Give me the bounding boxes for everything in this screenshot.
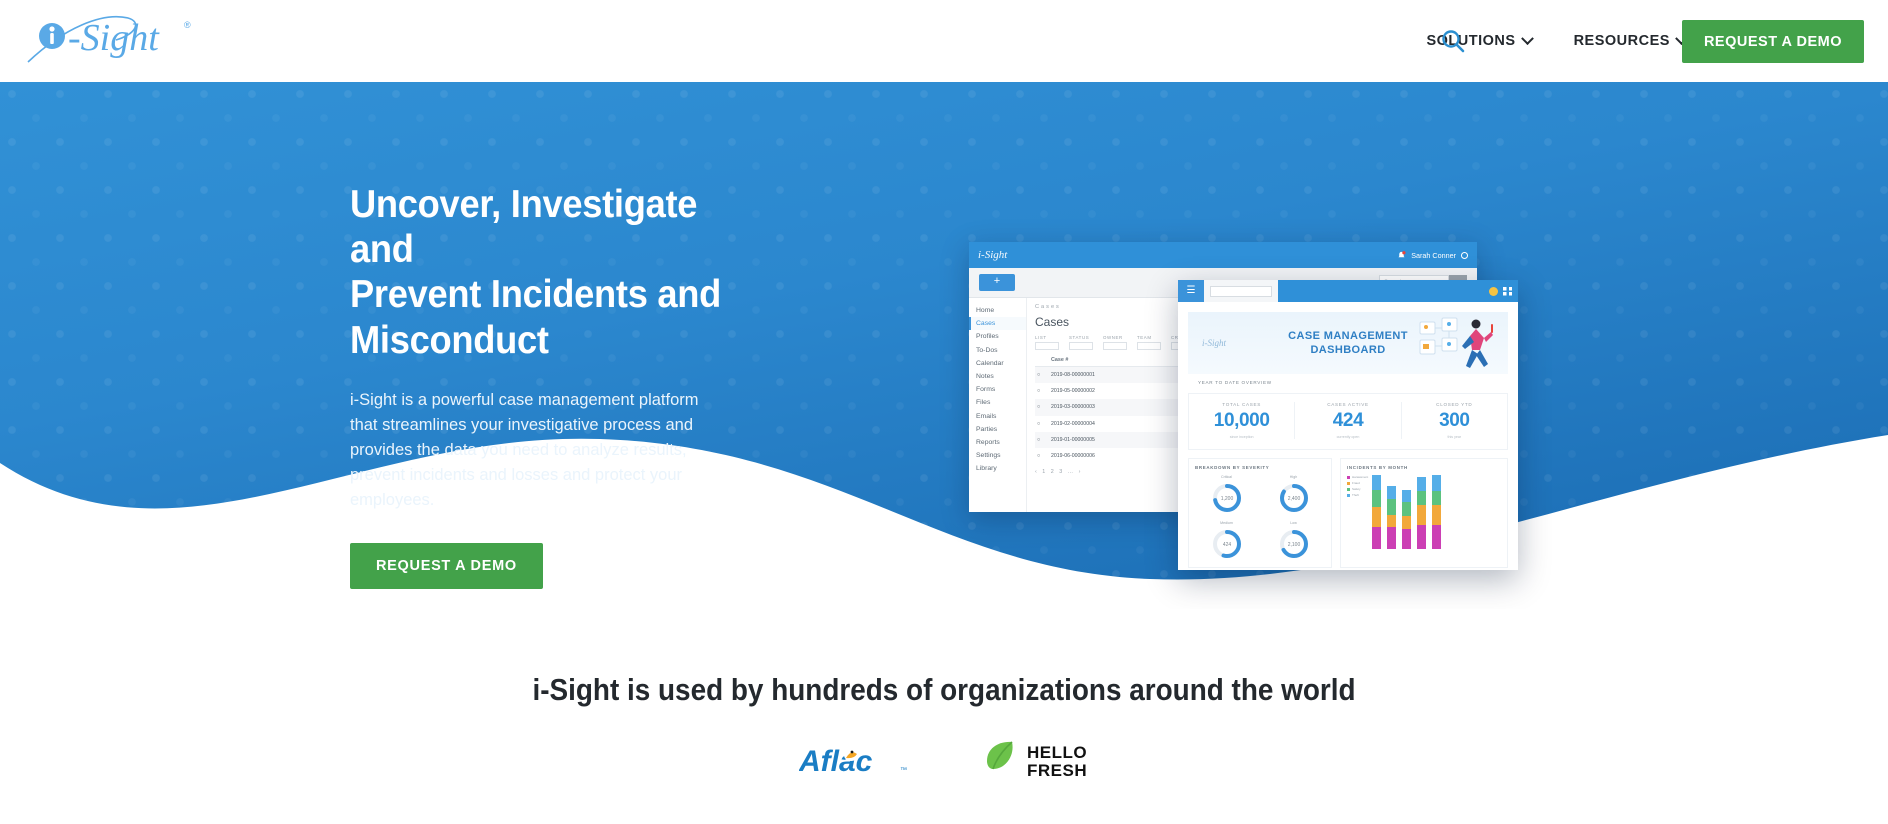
legend-item: Safety	[1347, 487, 1368, 491]
svg-text:®: ®	[184, 20, 191, 30]
sidebar-item-notes[interactable]: Notes	[969, 370, 1026, 383]
sidebar-item-library[interactable]: Library	[969, 462, 1026, 475]
stat-sublabel: currently open	[1295, 435, 1400, 439]
donut-label: Medium	[1220, 521, 1233, 525]
row-checkbox[interactable]: ○	[1035, 399, 1049, 415]
svg-text:424: 424	[1222, 542, 1231, 548]
hero-title-line-2: Prevent Incidents and	[350, 273, 721, 316]
stat-total-cases: TOTAL CASES 10,000 since inception	[1189, 402, 1295, 439]
legend-swatch	[1347, 476, 1350, 479]
bar-may	[1432, 475, 1441, 549]
stat-value: 424	[1295, 410, 1400, 432]
aflac-logo-icon: Aflac ™	[799, 738, 919, 784]
sidebar-item-emails[interactable]: Emails	[969, 410, 1026, 423]
filter-select-owner[interactable]	[1103, 342, 1127, 350]
dashboard-title-line-2: DASHBOARD	[1310, 344, 1385, 356]
legend-label: Safety	[1352, 487, 1361, 491]
legend-label: Theft	[1352, 493, 1359, 497]
donut-chart-icon: 424	[1210, 527, 1244, 561]
legend-item: Theft	[1347, 493, 1368, 497]
sidebar-item-profiles[interactable]: Profiles	[969, 330, 1026, 343]
avatar[interactable]	[1489, 287, 1498, 296]
panel-incidents-by-month: INCIDENTS BY MONTH Harassment Fraud Safe…	[1340, 458, 1508, 568]
client-logo-aflac: Aflac ™	[799, 738, 919, 784]
legend-item: Harassment	[1347, 475, 1368, 479]
bar-segment	[1432, 505, 1441, 525]
request-demo-button-header[interactable]: REQUEST A DEMO	[1682, 20, 1864, 63]
sidebar-item-home[interactable]: Home	[969, 304, 1026, 317]
donut-critical: Critical 1,200	[1195, 475, 1258, 515]
stat-label: CASES ACTIVE	[1295, 402, 1400, 407]
panel-title: BREAKDOWN BY SEVERITY	[1195, 465, 1325, 470]
donut-medium: Medium 424	[1195, 521, 1258, 561]
donut-label: High	[1290, 475, 1297, 479]
stat-cases-active: CASES ACTIVE 424 currently open	[1295, 402, 1401, 439]
donut-chart-icon: 2,100	[1277, 527, 1311, 561]
donut-chart-icon: 2,400	[1277, 481, 1311, 515]
stacked-bar-chart	[1372, 475, 1441, 549]
bell-icon[interactable]	[1397, 251, 1406, 260]
legend-label: Fraud	[1352, 481, 1360, 485]
filter-select-status[interactable]	[1069, 342, 1093, 350]
bar-segment	[1432, 491, 1441, 505]
i-sight-logo-icon: -Sight ®	[24, 10, 224, 68]
dashboard-select[interactable]	[1210, 286, 1272, 297]
bar-segment	[1387, 515, 1396, 527]
bar-jan	[1372, 475, 1381, 549]
hero-title-line-3: Misconduct	[350, 319, 549, 362]
donut-high: High 2,400	[1262, 475, 1325, 515]
site-logo[interactable]: -Sight ®	[24, 8, 234, 70]
stat-label: CLOSED YTD	[1402, 402, 1507, 407]
bar-segment	[1402, 502, 1411, 516]
filter-status[interactable]: STATUS	[1069, 335, 1093, 350]
panel-title: INCIDENTS BY MONTH	[1347, 465, 1501, 470]
dashboard-overview-label: YEAR TO DATE OVERVIEW	[1188, 374, 1508, 385]
svg-text:™: ™	[900, 767, 907, 774]
svg-text:Aflac: Aflac	[799, 745, 873, 778]
stat-value: 10,000	[1189, 410, 1294, 432]
mockup-sidebar: Home Cases Profiles To-Dos Calendar Note…	[969, 298, 1027, 512]
sidebar-item-settings[interactable]: Settings	[969, 449, 1026, 462]
dashboard-title-line-1: CASE MANAGEMENT	[1288, 330, 1408, 342]
donut-low: Low 2,100	[1262, 521, 1325, 561]
dashboard-topbar: ☰	[1178, 280, 1518, 302]
sidebar-item-parties[interactable]: Parties	[969, 423, 1026, 436]
legend-swatch	[1347, 488, 1350, 491]
hero-title-line-1: Uncover, Investigate and	[350, 183, 697, 271]
legend-label: Harassment	[1352, 475, 1368, 479]
bar-segment	[1417, 491, 1426, 505]
donut-label: Critical	[1221, 475, 1232, 479]
stat-closed-ytd: CLOSED YTD 300 this year	[1402, 402, 1507, 439]
bar-segment	[1387, 527, 1396, 549]
row-checkbox[interactable]: ○	[1035, 432, 1049, 448]
mockup-app-topbar: i-Sight Sarah Conner	[969, 242, 1477, 268]
stat-sublabel: this year	[1402, 435, 1507, 439]
product-screenshot-mockup: i-Sight Sarah Conner + Search...	[960, 162, 1540, 582]
gear-icon[interactable]	[1461, 252, 1468, 259]
hero-title: Uncover, Investigate and Prevent Inciden…	[350, 182, 722, 363]
donut-chart-group: Critical 1,200 High	[1195, 475, 1325, 561]
svg-text:1,200: 1,200	[1220, 496, 1233, 502]
svg-text:HELLO: HELLO	[1027, 743, 1087, 762]
bar-segment	[1402, 516, 1411, 529]
request-demo-button-hero[interactable]: REQUEST A DEMO	[350, 543, 543, 589]
filter-owner[interactable]: OWNER	[1103, 335, 1127, 350]
stat-sublabel: since inception	[1189, 435, 1294, 439]
chevron-down-icon	[1521, 32, 1534, 45]
bar-apr	[1417, 477, 1426, 549]
bar-segment	[1387, 486, 1396, 499]
filter-select-list[interactable]	[1035, 342, 1059, 350]
bar-segment	[1417, 525, 1426, 549]
hero-wave-divider	[0, 421, 1888, 609]
client-logos: Aflac ™ HELLO FRESH	[0, 738, 1888, 784]
donut-chart-icon: 1,200	[1210, 481, 1244, 515]
legend-item: Fraud	[1347, 481, 1368, 485]
svg-text:-Sight: -Sight	[68, 17, 160, 59]
illustration-person-icon	[1418, 316, 1498, 372]
hellofresh-logo-icon: HELLO FRESH	[979, 738, 1149, 784]
mockup-app-logo: i-Sight	[978, 249, 1007, 261]
filter-select-team[interactable]	[1137, 342, 1161, 350]
clients-section: i-Sight is used by hundreds of organizat…	[0, 609, 1888, 824]
sidebar-item-files[interactable]: Files	[969, 396, 1026, 409]
sidebar-item-todos[interactable]: To-Dos	[969, 344, 1026, 357]
clients-heading: i-Sight is used by hundreds of organizat…	[94, 672, 1793, 708]
legend-swatch	[1347, 494, 1350, 497]
bar-segment	[1417, 477, 1426, 491]
svg-text:FRESH: FRESH	[1027, 761, 1087, 780]
nav-item-resources[interactable]: RESOURCES	[1574, 33, 1686, 49]
bar-segment	[1372, 490, 1381, 507]
bar-segment	[1432, 475, 1441, 491]
filter-label-team: TEAM	[1137, 335, 1161, 340]
legend-swatch	[1347, 482, 1350, 485]
sidebar-item-cases[interactable]: Cases	[969, 317, 1026, 330]
hero-paragraph: i-Sight is a powerful case management pl…	[350, 388, 730, 513]
sidebar-item-calendar[interactable]: Calendar	[969, 357, 1026, 370]
bar-mar	[1402, 490, 1411, 549]
bar-segment	[1417, 505, 1426, 525]
sidebar-item-reports[interactable]: Reports	[969, 436, 1026, 449]
filter-label-status: STATUS	[1069, 335, 1093, 340]
panel-severity-breakdown: BREAKDOWN BY SEVERITY Critical 1,200	[1188, 458, 1332, 568]
hero-section: Uncover, Investigate and Prevent Inciden…	[0, 82, 1888, 609]
filter-list[interactable]: LIST	[1035, 335, 1059, 350]
row-checkbox[interactable]: ○	[1035, 383, 1049, 399]
donut-label: Low	[1290, 521, 1297, 525]
hero-copy: Uncover, Investigate and Prevent Inciden…	[350, 182, 750, 589]
sidebar-item-forms[interactable]: Forms	[969, 383, 1026, 396]
hamburger-icon[interactable]: ☰	[1178, 280, 1204, 302]
row-checkbox[interactable]: ○	[1035, 416, 1049, 432]
stat-value: 300	[1402, 410, 1507, 432]
site-header: -Sight ® SOLUTIONS RESOURCES ABOUT REQUE…	[0, 0, 1888, 82]
mockup-add-button[interactable]: +	[979, 274, 1015, 291]
dashboard-header: i-Sight CASE MANAGEMENT DASHBOARD	[1188, 312, 1508, 374]
bar-segment	[1402, 490, 1411, 502]
chart-legend: Harassment Fraud Safety Theft	[1347, 475, 1368, 549]
grid-icon[interactable]	[1503, 287, 1512, 296]
stat-label: TOTAL CASES	[1189, 402, 1294, 407]
filter-label-owner: OWNER	[1103, 335, 1127, 340]
dashboard-stats: TOTAL CASES 10,000 since inception CASES…	[1188, 393, 1508, 450]
bar-segment	[1432, 525, 1441, 549]
mockup-user-name: Sarah Conner	[1411, 251, 1456, 260]
bar-segment	[1372, 475, 1381, 490]
bar-feb	[1387, 486, 1396, 549]
row-checkbox[interactable]: ○	[1035, 448, 1049, 464]
dashboard-topbar-blue	[1278, 280, 1518, 302]
row-checkbox[interactable]: ○	[1035, 367, 1049, 384]
filter-team[interactable]: TEAM	[1137, 335, 1161, 350]
mockup-dashboard-window: ☰ i-Sight CASE MANAGEMENT DASHBOARD	[1178, 280, 1518, 570]
client-logo-hellofresh: HELLO FRESH	[979, 738, 1149, 784]
dashboard-panels: BREAKDOWN BY SEVERITY Critical 1,200	[1188, 458, 1508, 568]
svg-text:2,100: 2,100	[1287, 542, 1300, 548]
nav-label-resources: RESOURCES	[1574, 33, 1670, 49]
filter-label-list: LIST	[1035, 335, 1059, 340]
bar-segment	[1387, 499, 1396, 515]
bar-segment	[1372, 527, 1381, 549]
svg-text:2,400: 2,400	[1287, 496, 1300, 502]
bar-segment	[1402, 529, 1411, 549]
bar-segment	[1372, 507, 1381, 527]
search-icon[interactable]	[1438, 26, 1468, 56]
